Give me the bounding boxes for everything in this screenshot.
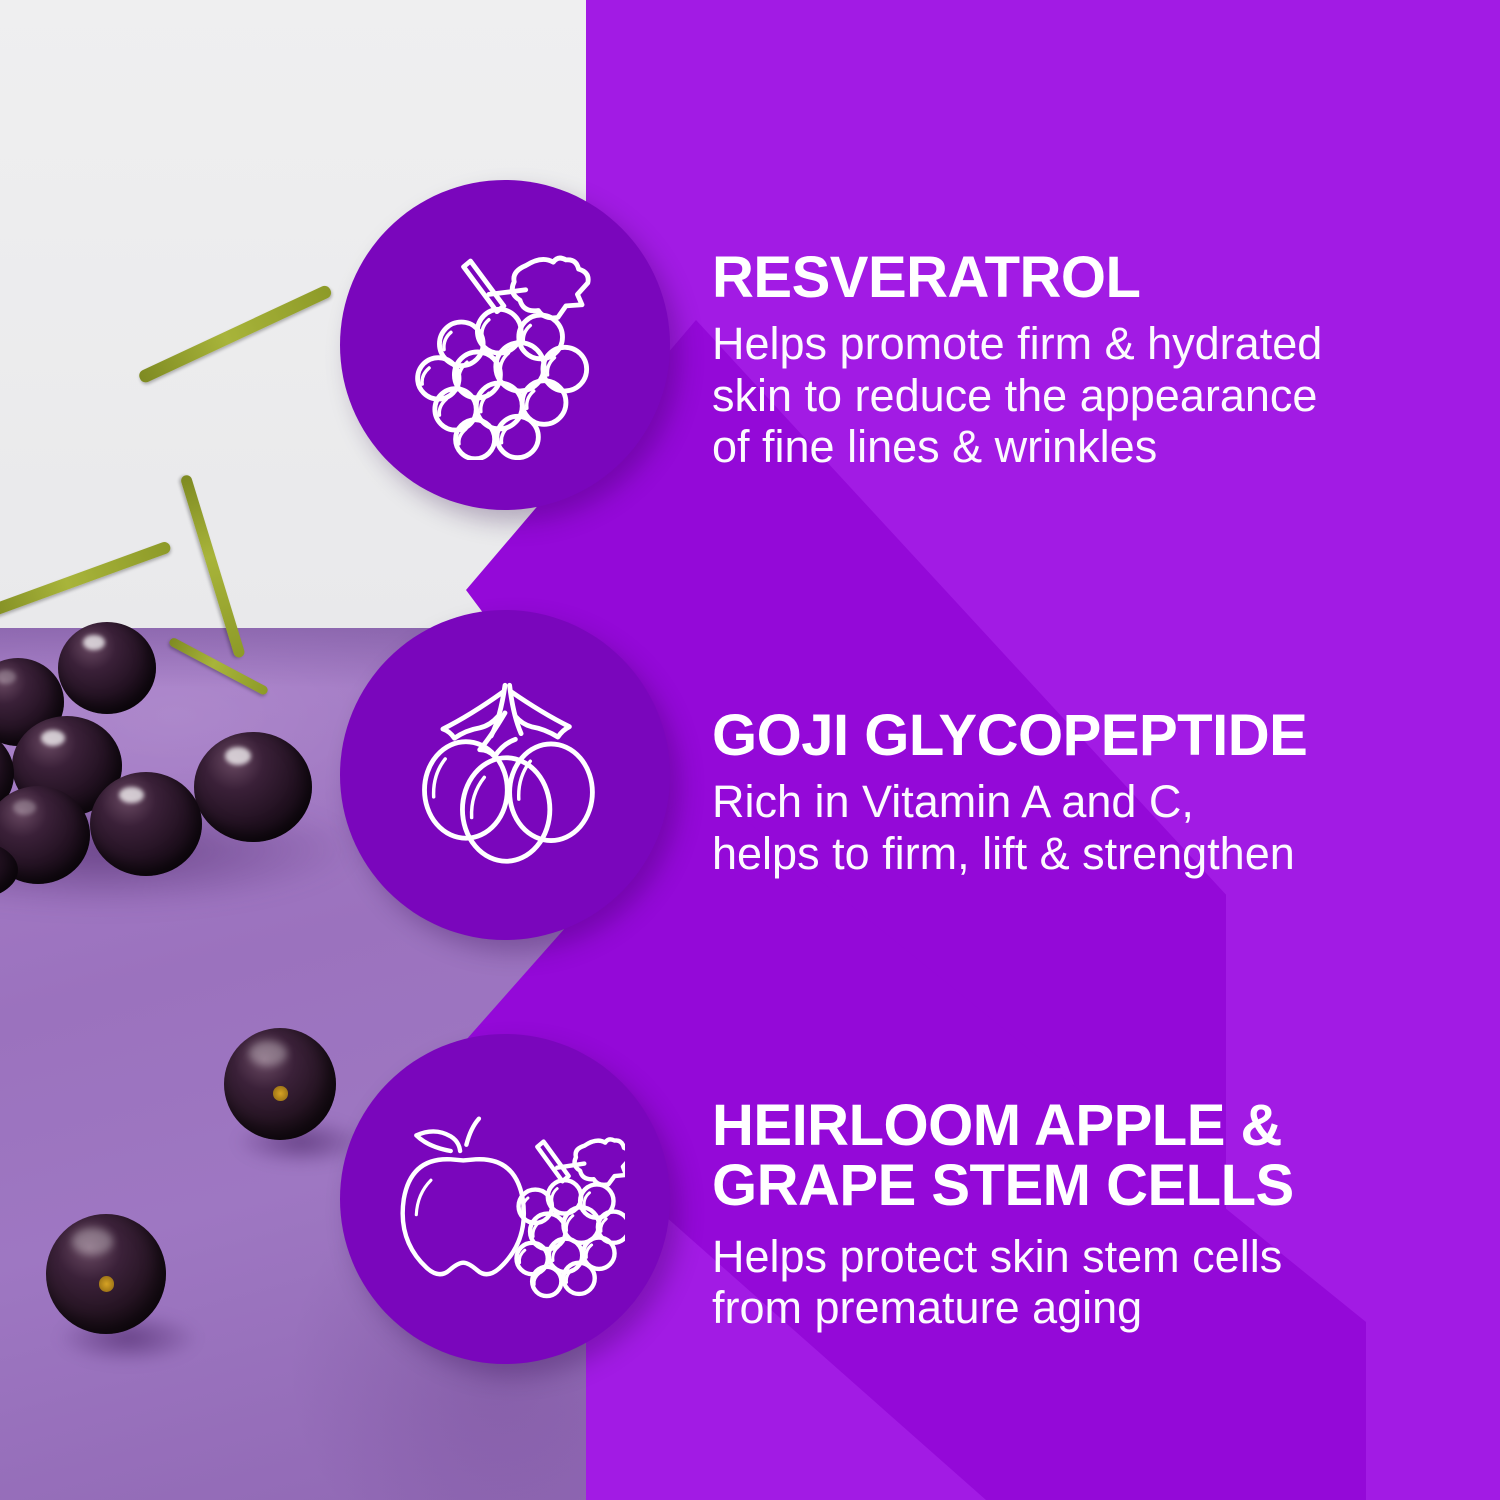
feature-text-goji: GOJI GLYCOPEPTIDE Rich in Vitamin A and … xyxy=(712,706,1307,879)
grape-bunch xyxy=(0,540,350,870)
grapes-icon xyxy=(390,230,620,460)
feature-description-line: Helps promote firm & hydrated xyxy=(712,318,1322,369)
feature-description-line: helps to firm, lift & strengthen xyxy=(712,828,1307,879)
loose-grape-1 xyxy=(224,1028,336,1140)
feature-title: HEIRLOOM APPLE & GRAPE STEM CELLS xyxy=(712,1096,1294,1217)
feature-badge-goji[interactable] xyxy=(340,610,670,940)
goji-berries-icon xyxy=(390,660,620,890)
feature-description-line: Rich in Vitamin A and C, xyxy=(712,776,1307,827)
feature-text-stem-cells: HEIRLOOM APPLE & GRAPE STEM CELLS Helps … xyxy=(712,1096,1294,1333)
feature-badge-resveratrol[interactable] xyxy=(340,180,670,510)
feature-title-line: HEIRLOOM APPLE & xyxy=(712,1096,1294,1156)
feature-title-line: GRAPE STEM CELLS xyxy=(712,1156,1294,1216)
feature-description-line: of fine lines & wrinkles xyxy=(712,421,1322,472)
feature-description-line: Helps protect skin stem cells xyxy=(712,1231,1294,1282)
apple-and-grapes-icon xyxy=(385,1079,625,1319)
feature-title: RESVERATROL xyxy=(712,248,1322,308)
loose-grape-2 xyxy=(46,1214,166,1334)
feature-badge-stem-cells[interactable] xyxy=(340,1034,670,1364)
product-ingredient-infographic: RESVERATROL Helps promote firm & hydrate… xyxy=(0,0,1500,1500)
feature-description: Rich in Vitamin A and C, helps to firm, … xyxy=(712,776,1307,879)
feature-title: GOJI GLYCOPEPTIDE xyxy=(712,706,1307,766)
feature-description: Helps protect skin stem cells from prema… xyxy=(712,1231,1294,1334)
feature-text-resveratrol: RESVERATROL Helps promote firm & hydrate… xyxy=(712,248,1322,472)
feature-description-line: from premature aging xyxy=(712,1282,1294,1333)
feature-description-line: skin to reduce the appearance xyxy=(712,370,1322,421)
feature-description: Helps promote firm & hydrated skin to re… xyxy=(712,318,1322,472)
